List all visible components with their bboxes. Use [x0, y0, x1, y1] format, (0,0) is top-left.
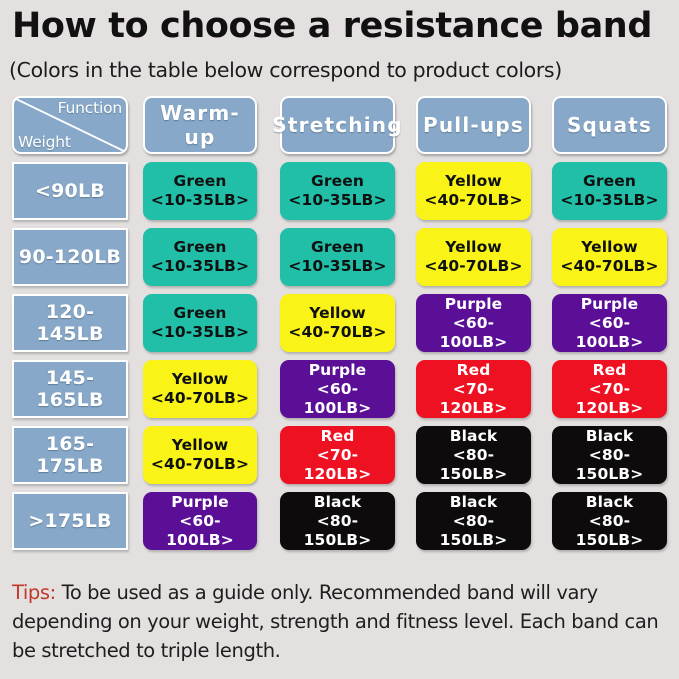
band-color-name: Purple [581, 295, 639, 314]
band-color-name: Black [450, 493, 498, 512]
band-resistance-range: <60-100LB> [420, 314, 527, 352]
table-row: 120-145LB Green <10-35LB> Yellow <40-70L… [0, 294, 679, 354]
band-color-name: Black [314, 493, 362, 512]
band-cell: Green <10-35LB> [143, 162, 257, 220]
band-resistance-range: <10-35LB> [288, 257, 386, 276]
band-color-name: Yellow [445, 238, 502, 257]
column-header-squats: Squats [552, 96, 667, 154]
band-resistance-range: <10-35LB> [151, 257, 249, 276]
band-color-name: Black [450, 427, 498, 446]
band-cell: Black <80-150LB> [416, 492, 531, 550]
band-color-name: Yellow [581, 238, 638, 257]
row-weight-cell: 165-175LB [12, 426, 128, 484]
band-cell: Yellow <40-70LB> [552, 228, 667, 286]
band-resistance-range: <40-70LB> [560, 257, 658, 276]
band-cell: Green <10-35LB> [280, 228, 395, 286]
column-header-label: Warm-up [145, 101, 255, 149]
band-cell: Green <10-35LB> [280, 162, 395, 220]
band-color-name: Yellow [445, 172, 502, 191]
table-row: >175LB Purple <60-100LB> Black <80-150LB… [0, 492, 679, 552]
page-subtitle: (Colors in the table below correspond to… [9, 55, 674, 85]
band-cell: Red <70-120LB> [280, 426, 395, 484]
band-resistance-range: <70-120LB> [284, 446, 391, 484]
band-color-name: Red [457, 361, 491, 380]
band-resistance-range: <80-150LB> [556, 446, 663, 484]
band-resistance-range: <40-70LB> [424, 257, 522, 276]
band-resistance-range: <80-150LB> [556, 512, 663, 550]
band-cell: Yellow <40-70LB> [416, 162, 531, 220]
row-weight-label: 90-120LB [19, 246, 121, 268]
band-resistance-range: <80-150LB> [284, 512, 391, 550]
band-cell: Black <80-150LB> [552, 426, 667, 484]
band-resistance-range: <40-70LB> [151, 389, 249, 408]
page-title: How to choose a resistance band [12, 4, 672, 48]
column-header-stretching: Stretching [280, 96, 395, 154]
band-resistance-range: <80-150LB> [420, 512, 527, 550]
band-color-name: Yellow [172, 370, 229, 389]
band-resistance-range: <70-120LB> [556, 380, 663, 418]
table-header-row: Function Weight Warm-up Stretching Pull-… [0, 96, 679, 156]
band-color-name: Green [311, 172, 364, 191]
band-color-name: Green [174, 238, 227, 257]
band-cell: Green <10-35LB> [143, 228, 257, 286]
row-weight-label: 120-145LB [14, 301, 126, 345]
row-weight-cell: >175LB [12, 492, 128, 550]
row-weight-cell: 90-120LB [12, 228, 128, 286]
band-cell: Green <10-35LB> [552, 162, 667, 220]
corner-function-weight-cell: Function Weight [12, 96, 128, 154]
band-cell: Yellow <40-70LB> [280, 294, 395, 352]
column-header-label: Pull-ups [423, 113, 524, 137]
column-header-warm-up: Warm-up [143, 96, 257, 154]
band-color-name: Red [593, 361, 627, 380]
table-row: 145-165LB Yellow <40-70LB> Purple <60-10… [0, 360, 679, 420]
band-cell: Red <70-120LB> [416, 360, 531, 418]
table-row: 165-175LB Yellow <40-70LB> Red <70-120LB… [0, 426, 679, 486]
band-resistance-range: <60-100LB> [556, 314, 663, 352]
band-resistance-range: <10-35LB> [288, 191, 386, 210]
band-resistance-range: <40-70LB> [424, 191, 522, 210]
band-cell: Black <80-150LB> [280, 492, 395, 550]
table-row: 90-120LB Green <10-35LB> Green <10-35LB>… [0, 228, 679, 288]
band-color-name: Green [311, 238, 364, 257]
column-header-pull-ups: Pull-ups [416, 96, 531, 154]
band-resistance-range: <40-70LB> [151, 455, 249, 474]
tips-label: Tips: [12, 581, 56, 604]
band-color-name: Green [174, 172, 227, 191]
band-cell: Black <80-150LB> [416, 426, 531, 484]
table-row: <90LB Green <10-35LB> Green <10-35LB> Ye… [0, 162, 679, 222]
column-header-label: Squats [567, 113, 652, 137]
row-weight-cell: 120-145LB [12, 294, 128, 352]
band-resistance-range: <80-150LB> [420, 446, 527, 484]
band-color-name: Red [321, 427, 355, 446]
row-weight-label: 165-175LB [14, 433, 126, 477]
row-weight-cell: <90LB [12, 162, 128, 220]
band-cell: Red <70-120LB> [552, 360, 667, 418]
row-weight-label: >175LB [28, 510, 111, 532]
column-header-label: Stretching [272, 113, 402, 137]
tips-text: To be used as a guide only. Recommended … [12, 581, 658, 662]
band-resistance-range: <10-35LB> [151, 323, 249, 342]
band-resistance-range: <40-70LB> [288, 323, 386, 342]
band-color-name: Black [586, 493, 634, 512]
row-weight-label: <90LB [35, 180, 105, 202]
band-cell: Yellow <40-70LB> [143, 360, 257, 418]
band-resistance-range: <60-100LB> [284, 380, 391, 418]
band-color-name: Yellow [172, 436, 229, 455]
band-cell: Black <80-150LB> [552, 492, 667, 550]
band-cell: Yellow <40-70LB> [416, 228, 531, 286]
band-cell: Purple <60-100LB> [416, 294, 531, 352]
band-resistance-range: <10-35LB> [560, 191, 658, 210]
band-color-name: Purple [171, 493, 229, 512]
band-color-name: Purple [309, 361, 367, 380]
band-cell: Green <10-35LB> [143, 294, 257, 352]
band-resistance-range: <60-100LB> [147, 512, 253, 550]
band-cell: Purple <60-100LB> [280, 360, 395, 418]
band-selection-table: Function Weight Warm-up Stretching Pull-… [0, 96, 679, 558]
band-color-name: Green [174, 304, 227, 323]
row-weight-cell: 145-165LB [12, 360, 128, 418]
band-cell: Purple <60-100LB> [143, 492, 257, 550]
band-resistance-range: <10-35LB> [151, 191, 249, 210]
resistance-band-chart: How to choose a resistance band (Colors … [0, 0, 679, 679]
corner-weight-label: Weight [18, 133, 71, 151]
band-cell: Purple <60-100LB> [552, 294, 667, 352]
band-color-name: Purple [445, 295, 503, 314]
row-weight-label: 145-165LB [14, 367, 126, 411]
band-cell: Yellow <40-70LB> [143, 426, 257, 484]
tips-note: Tips: To be used as a guide only. Recomm… [12, 578, 672, 665]
band-resistance-range: <70-120LB> [420, 380, 527, 418]
band-color-name: Yellow [309, 304, 366, 323]
band-color-name: Black [586, 427, 634, 446]
band-color-name: Green [583, 172, 636, 191]
corner-function-label: Function [58, 99, 122, 117]
